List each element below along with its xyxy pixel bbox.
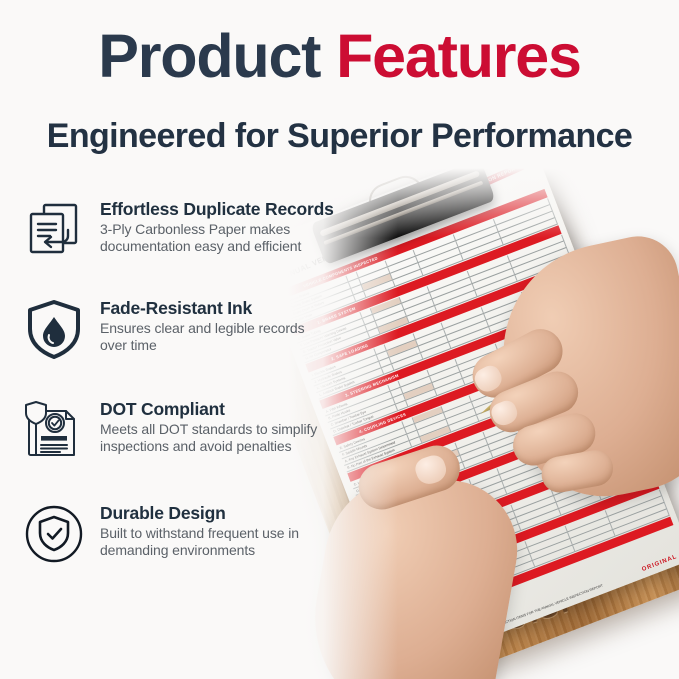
feature-desc-line-2: demanding environments bbox=[100, 542, 299, 559]
feature-item-fade-resistant-ink: Fade-Resistant Ink Ensures clear and leg… bbox=[22, 297, 304, 361]
feature-desc-line-1: Built to withstand frequent use in bbox=[100, 525, 299, 542]
page-title: Product Features bbox=[0, 26, 679, 87]
shield-check-circle-icon bbox=[22, 502, 86, 566]
feature-text-block: DOT Compliant Meets all DOT standards to… bbox=[100, 398, 317, 455]
feature-title: Effortless Duplicate Records bbox=[100, 200, 334, 220]
feature-desc-line-2: documentation easy and efficient bbox=[100, 238, 334, 255]
document-check-shield-icon bbox=[22, 398, 86, 462]
title-part-features: Features bbox=[336, 22, 581, 90]
feature-description: Meets all DOT standards to simplify insp… bbox=[100, 421, 317, 456]
page-subtitle: Engineered for Superior Performance bbox=[0, 117, 679, 156]
feature-desc-line-2: over time bbox=[100, 337, 304, 354]
fingernail bbox=[489, 398, 521, 429]
feature-item-dot-compliant: DOT Compliant Meets all DOT standards to… bbox=[22, 398, 317, 462]
feature-description: 3-Ply Carbonless Paper makes documentati… bbox=[100, 221, 334, 256]
feature-text-block: Fade-Resistant Ink Ensures clear and leg… bbox=[100, 297, 304, 354]
thumbnail bbox=[412, 452, 449, 487]
feature-item-durable-design: Durable Design Built to withstand freque… bbox=[22, 502, 299, 566]
title-part-product: Product bbox=[98, 22, 320, 90]
feature-text-block: Durable Design Built to withstand freque… bbox=[100, 502, 299, 559]
feature-item-duplicate-records: Effortless Duplicate Records 3-Ply Carbo… bbox=[22, 198, 334, 262]
feature-description: Ensures clear and legible records over t… bbox=[100, 320, 304, 355]
feature-desc-line-2: inspections and avoid penalties bbox=[100, 438, 317, 455]
feature-description: Built to withstand frequent use in deman… bbox=[100, 525, 299, 560]
feature-title: DOT Compliant bbox=[100, 400, 317, 420]
shield-ink-drop-icon bbox=[22, 297, 86, 361]
product-photo: BUCK U.S. VEHICLE INSPECTION REPORT ANNU… bbox=[288, 168, 679, 679]
product-features-infographic: BUCK U.S. VEHICLE INSPECTION REPORT ANNU… bbox=[0, 0, 679, 679]
photo-top-fade bbox=[288, 168, 679, 238]
feature-desc-line-1: Meets all DOT standards to simplify bbox=[100, 421, 317, 438]
feature-title: Fade-Resistant Ink bbox=[100, 299, 304, 319]
feature-desc-line-1: Ensures clear and legible records bbox=[100, 320, 304, 337]
feature-desc-line-1: 3-Ply Carbonless Paper makes bbox=[100, 221, 334, 238]
feature-title: Durable Design bbox=[100, 504, 299, 524]
feature-text-block: Effortless Duplicate Records 3-Ply Carbo… bbox=[100, 198, 334, 255]
duplicate-documents-icon bbox=[22, 198, 86, 262]
